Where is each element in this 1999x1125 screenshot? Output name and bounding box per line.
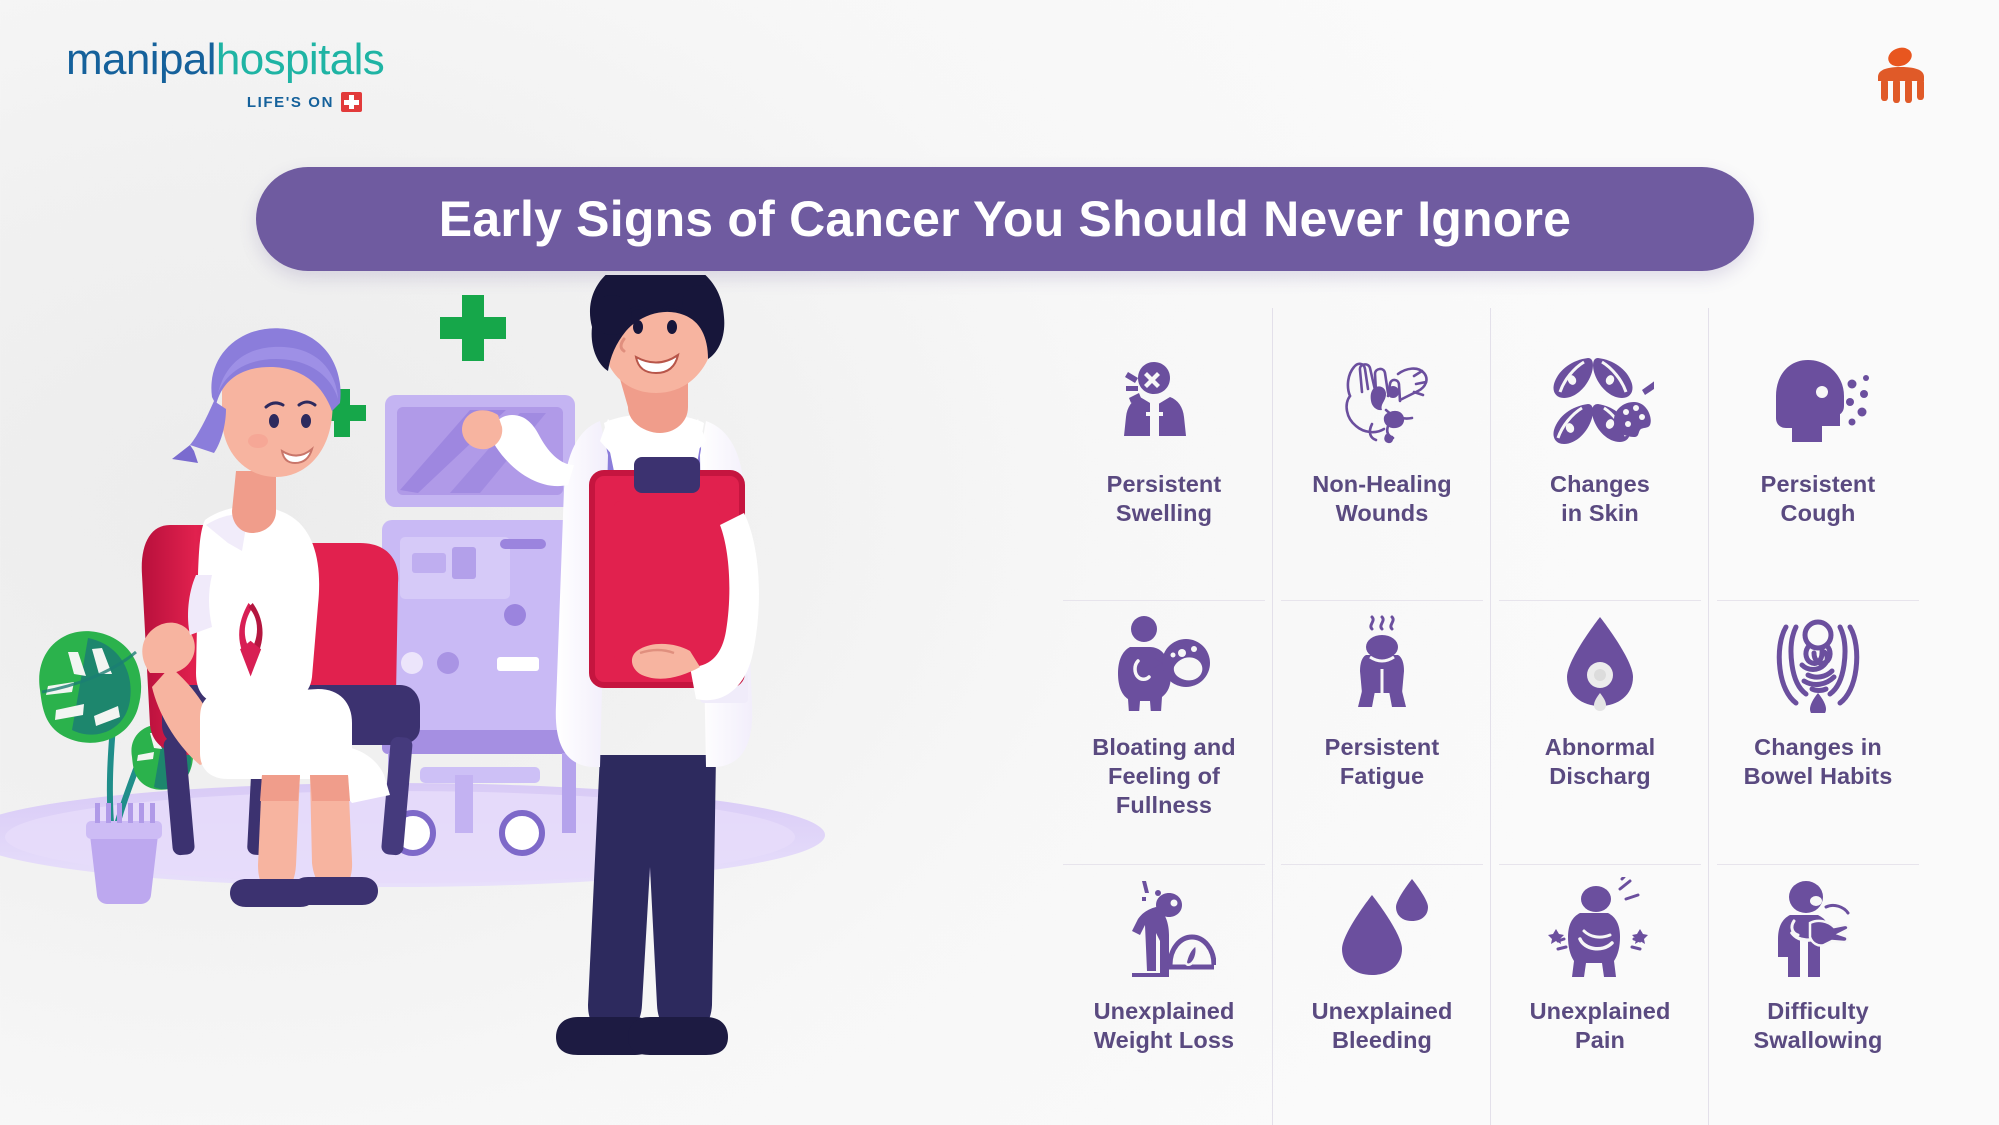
weight-scale-icon: [1112, 871, 1216, 983]
symptom-cell-non-healing-wounds[interactable]: Non-HealingWounds: [1273, 330, 1491, 593]
doctor-and-cancer-patient-illustration: [0, 275, 1010, 1125]
swelling-person-icon: [1116, 344, 1212, 456]
symptom-cell-unexplained-bleeding[interactable]: UnexplainedBleeding: [1273, 857, 1491, 1120]
symptom-cell-persistent-cough[interactable]: PersistentCough: [1709, 330, 1927, 593]
symptom-label: UnexplainedBleeding: [1312, 997, 1453, 1055]
symptom-label: Changes inBowel Habits: [1744, 733, 1893, 791]
symptom-cell-changes-bowel-habits[interactable]: Changes inBowel Habits: [1709, 593, 1927, 856]
symptom-label: Changesin Skin: [1550, 470, 1650, 528]
blood-drops-icon: [1334, 871, 1430, 983]
logo-tagline-row: LIFE'S ON: [66, 92, 406, 112]
coughing-head-icon: [1766, 344, 1870, 456]
symptom-label: AbnormalDischarg: [1545, 733, 1655, 791]
logo-word-hospitals: hospitals: [216, 35, 384, 84]
logo-tagline: LIFE'S ON: [247, 94, 334, 111]
symptom-grid: PersistentSwelling: [1055, 330, 1927, 1120]
red-cross-icon: [341, 92, 362, 112]
bloated-abdomen-icon: [1110, 607, 1218, 719]
orange-brandmark-icon: [1872, 46, 1934, 104]
symptom-label: PersistentCough: [1761, 470, 1876, 528]
symptom-cell-difficulty-swallowing[interactable]: DifficultySwallowing: [1709, 857, 1927, 1120]
symptom-label: UnexplainedPain: [1530, 997, 1671, 1055]
logo-word-manipal: manipal: [66, 35, 216, 84]
logo-wordmark: manipalhospitals: [66, 38, 406, 82]
manipal-hospitals-logo: manipalhospitals LIFE'S ON: [66, 38, 406, 110]
tired-person-icon: [1336, 607, 1428, 719]
symptom-label: Bloating andFeeling ofFullness: [1092, 733, 1236, 820]
discharge-droplet-icon: [1559, 607, 1641, 719]
symptom-cell-persistent-fatigue[interactable]: PersistentFatigue: [1273, 593, 1491, 856]
skin-palette-icon: [1546, 344, 1654, 456]
symptom-cell-persistent-swelling[interactable]: PersistentSwelling: [1055, 330, 1273, 593]
symptom-label: UnexplainedWeight Loss: [1094, 997, 1235, 1055]
intestines-icon: [1768, 607, 1868, 719]
symptom-label: Non-HealingWounds: [1312, 470, 1451, 528]
page-title: Early Signs of Cancer You Should Never I…: [439, 190, 1571, 248]
symptom-cell-bloating-fullness[interactable]: Bloating andFeeling ofFullness: [1055, 593, 1273, 856]
symptom-cell-unexplained-pain[interactable]: UnexplainedPain: [1491, 857, 1709, 1120]
abdominal-pain-icon: [1548, 871, 1652, 983]
page-title-banner: Early Signs of Cancer You Should Never I…: [256, 167, 1754, 271]
symptom-label: PersistentFatigue: [1325, 733, 1440, 791]
symptom-cell-unexplained-weight-loss[interactable]: UnexplainedWeight Loss: [1055, 857, 1273, 1120]
symptom-cell-abnormal-discharge[interactable]: AbnormalDischarg: [1491, 593, 1709, 856]
throat-swallow-icon: [1766, 871, 1870, 983]
bandaged-hand-icon: [1330, 344, 1434, 456]
symptom-label: PersistentSwelling: [1107, 470, 1222, 528]
green-plus-large: [440, 295, 506, 361]
symptom-label: DifficultySwallowing: [1754, 997, 1883, 1055]
symptom-cell-changes-in-skin[interactable]: Changesin Skin: [1491, 330, 1709, 593]
